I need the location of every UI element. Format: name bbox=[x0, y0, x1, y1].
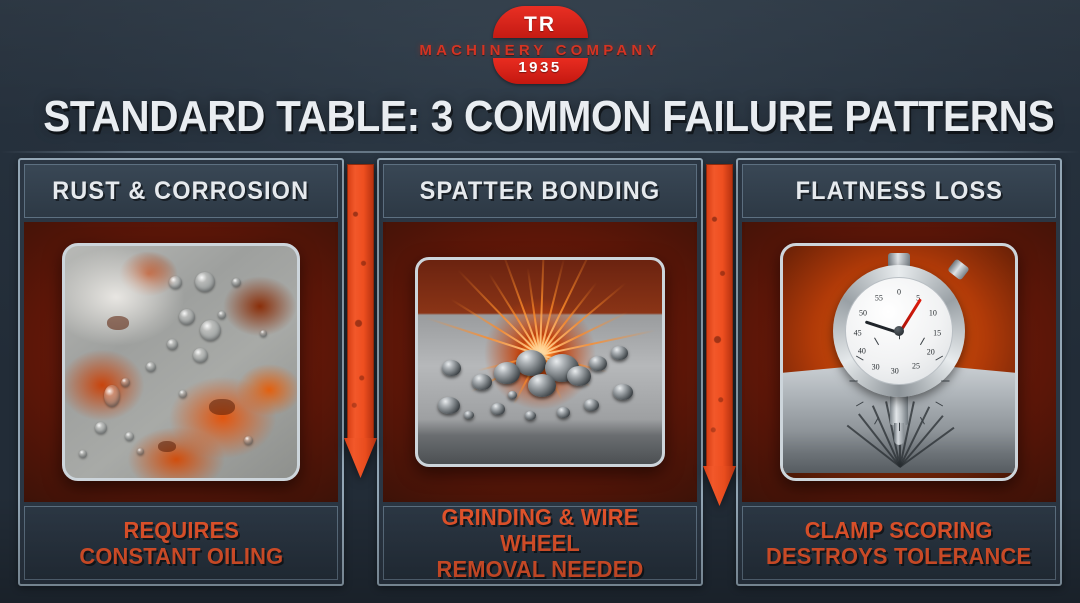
column-caption-text-3: CLAMP SCORING DESTROYS TOLERANCE bbox=[766, 517, 1031, 569]
column-heading-text-3: FLATNESS LOSS bbox=[795, 177, 1002, 206]
gauge-num-45: 45 bbox=[854, 328, 862, 337]
column-image-1 bbox=[24, 222, 338, 502]
gauge-face: 0 5 10 15 20 25 30 30 40 45 50 55 bbox=[845, 277, 953, 385]
gauge-num-50: 50 bbox=[859, 308, 867, 317]
rust-plate-image bbox=[62, 243, 300, 481]
column-heading-3: FLATNESS LOSS bbox=[742, 164, 1056, 218]
column-image-2 bbox=[383, 222, 697, 502]
gauge-num-30: 30 bbox=[872, 362, 880, 371]
column-spatter-bonding: SPATTER BONDING bbox=[377, 158, 703, 586]
brand-year: 1935 bbox=[518, 58, 561, 75]
logo-dome-bottom: 1935 bbox=[493, 58, 588, 84]
column-heading-2: SPATTER BONDING bbox=[383, 164, 697, 218]
column-rust-corrosion: RUST & CORROSION bbox=[18, 158, 344, 586]
column-caption-text-2: GRINDING & WIRE WHEEL REMOVAL NEEDED bbox=[399, 504, 680, 582]
weld-spatter-image bbox=[415, 257, 665, 467]
column-caption-3: CLAMP SCORING DESTROYS TOLERANCE bbox=[742, 506, 1056, 580]
title-divider bbox=[0, 151, 1080, 153]
flow-arrow-2-head bbox=[703, 466, 736, 506]
column-heading-1: RUST & CORROSION bbox=[24, 164, 338, 218]
page-title: STANDARD TABLE: 3 COMMON FAILURE PATTERN… bbox=[43, 92, 1037, 142]
dial-indicator: 0 5 10 15 20 25 30 30 40 45 50 55 bbox=[833, 265, 965, 397]
caption-line-3a: CLAMP SCORING bbox=[805, 517, 993, 543]
caption-line-1a: REQUIRES bbox=[123, 517, 239, 543]
caption-line-3b: DESTROYS TOLERANCE bbox=[766, 543, 1031, 569]
column-caption-text-1: REQUIRES CONSTANT OILING bbox=[79, 517, 283, 569]
flow-arrow-1-head bbox=[344, 438, 377, 478]
gauge-side-knob bbox=[947, 259, 970, 281]
gauge-num-10: 10 bbox=[929, 308, 937, 317]
gauge-hub bbox=[894, 326, 904, 336]
gauge-num-15: 15 bbox=[933, 328, 941, 337]
flow-arrow-2-shaft bbox=[706, 164, 733, 466]
column-flatness-loss: FLATNESS LOSS bbox=[736, 158, 1062, 586]
caption-line-2b: REMOVAL NEEDED bbox=[436, 556, 643, 582]
brand-name: MACHINERY COMPANY bbox=[419, 42, 660, 59]
gauge-num-25: 25 bbox=[912, 361, 920, 370]
columns-container: RUST & CORROSION bbox=[18, 158, 1062, 586]
flow-arrow-1 bbox=[344, 164, 377, 478]
flow-arrow-1-shaft bbox=[347, 164, 374, 438]
logo-initials: TR bbox=[524, 14, 556, 38]
caption-line-1b: CONSTANT OILING bbox=[79, 543, 283, 569]
gauge-num-40: 40 bbox=[858, 346, 866, 355]
gauge-num-0: 0 bbox=[897, 288, 901, 297]
column-caption-1: REQUIRES CONSTANT OILING bbox=[24, 506, 338, 580]
dial-gauge-image: 0 5 10 15 20 25 30 30 40 45 50 55 bbox=[780, 243, 1018, 481]
gauge-num-30-inner: 30 bbox=[891, 366, 899, 375]
column-heading-text-1: RUST & CORROSION bbox=[53, 177, 310, 206]
caption-line-2a: GRINDING & WIRE WHEEL bbox=[441, 504, 638, 556]
infographic-canvas: TR MACHINERY COMPANY 1935 STANDARD TABLE… bbox=[0, 0, 1080, 603]
gauge-num-55: 55 bbox=[875, 293, 883, 302]
flow-arrow-2 bbox=[703, 164, 736, 506]
column-heading-text-2: SPATTER BONDING bbox=[420, 177, 661, 206]
column-caption-2: GRINDING & WIRE WHEEL REMOVAL NEEDED bbox=[383, 506, 697, 580]
brand-logo: TR MACHINERY COMPANY 1935 bbox=[0, 6, 1080, 92]
column-image-3: 0 5 10 15 20 25 30 30 40 45 50 55 bbox=[742, 222, 1056, 502]
logo-dome-top: TR bbox=[493, 6, 588, 38]
gauge-num-20: 20 bbox=[927, 347, 935, 356]
